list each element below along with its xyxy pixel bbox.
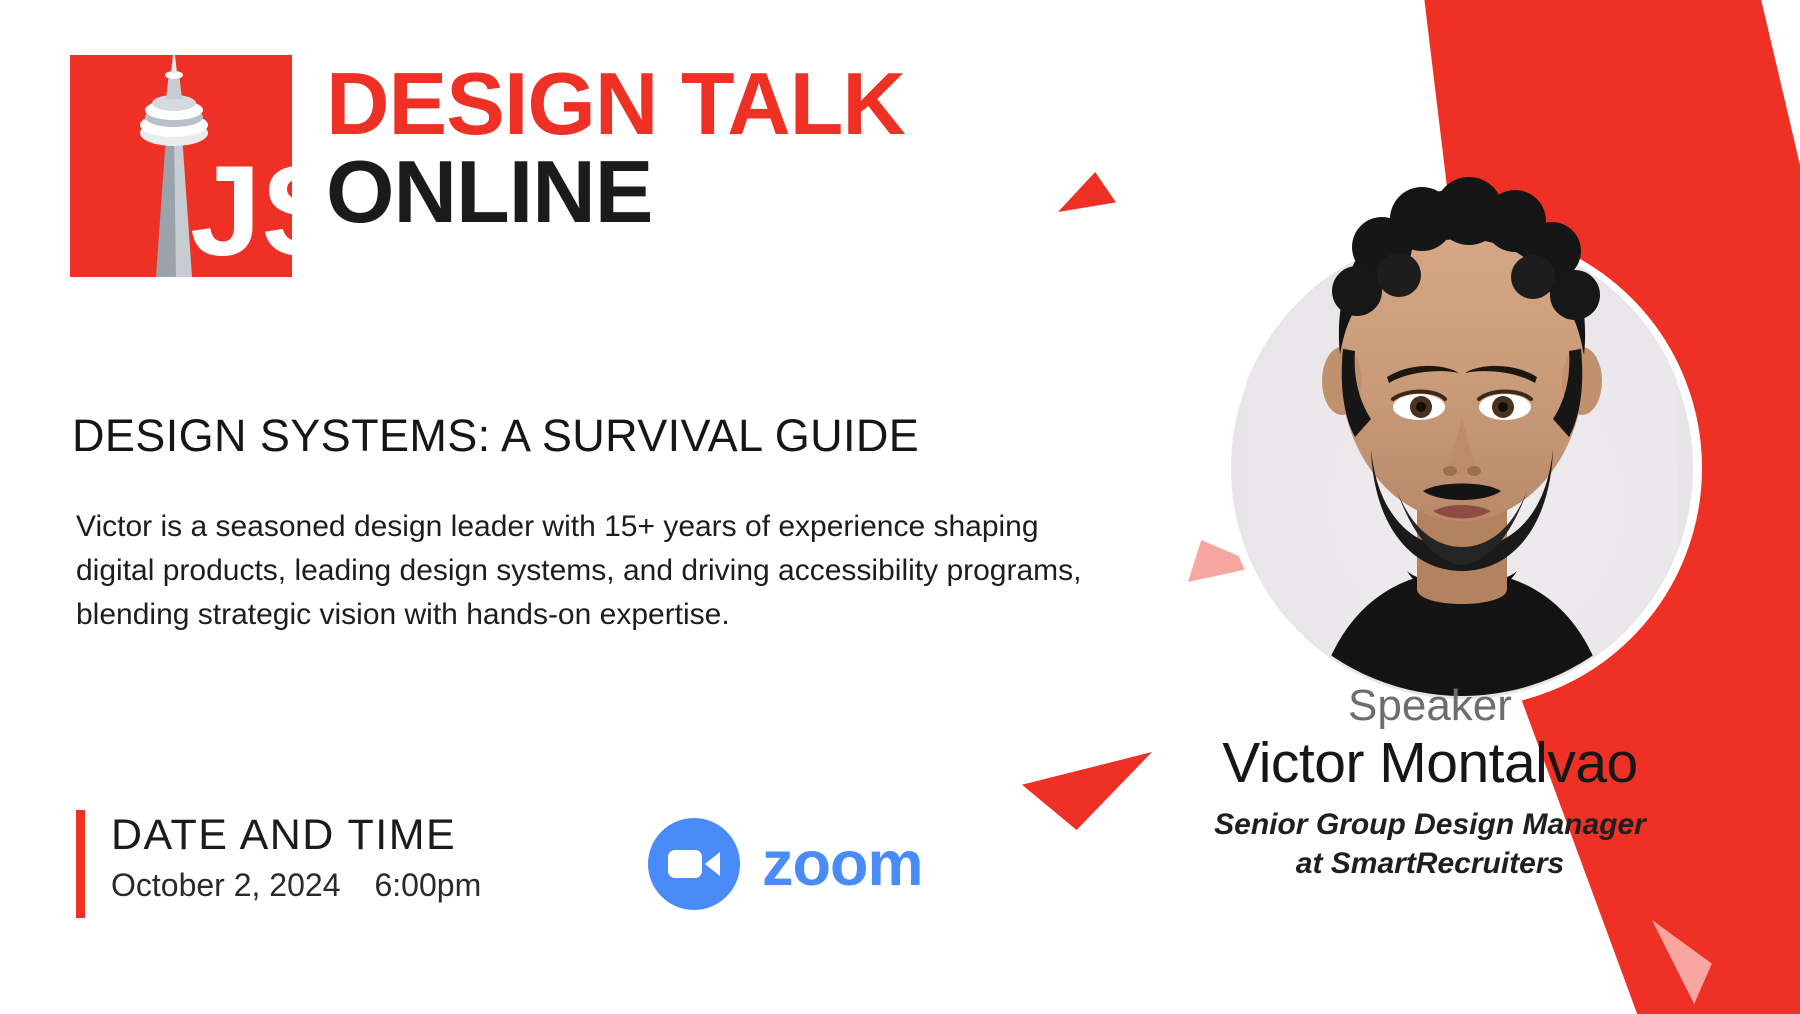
brand-title-line1: DESIGN TALK [326,61,905,146]
zoom-wordmark: zoom [762,828,922,900]
event-date: October 2, 2024 [111,867,340,903]
date-and-time-value: October 2, 20246:00pm [111,867,481,904]
speaker-role-line1: Senior Group Design Manager [1150,805,1710,844]
speaker-info: Speaker Victor Montalvao Senior Group De… [1150,682,1710,883]
red-accent-bar [76,810,85,918]
speaker-name: Victor Montalvao [1150,730,1710,797]
speaker-portrait-photo [1247,119,1677,759]
brand-header: JS DESIGN TALK ONLINE [70,55,905,277]
svg-text:JS: JS [190,140,292,277]
poster-canvas: JS DESIGN TALK ONLINE DESIGN SYSTEMS: A … [0,0,1800,1014]
speaker-label: Speaker [1150,682,1710,730]
cn-tower-js-logo-icon: JS [70,55,292,277]
red-triangle-icon [1058,172,1116,212]
avatar [1222,228,1702,708]
red-arrow-icon [1022,752,1152,830]
speaker-bio: Victor is a seasoned design leader with … [76,505,1086,637]
zoom-logo: zoom [648,818,922,910]
date-and-time-label: DATE AND TIME [111,810,481,861]
talk-title: DESIGN SYSTEMS: A SURVIVAL GUIDE [72,410,919,462]
speaker-role-line2: at SmartRecruiters [1150,844,1710,883]
brand-title: DESIGN TALK ONLINE [326,55,905,239]
zoom-video-camera-icon [648,818,740,910]
brand-title-line2: ONLINE [326,146,905,238]
event-time: 6:00pm [374,867,481,903]
date-and-time-block: DATE AND TIME October 2, 20246:00pm [76,810,481,918]
